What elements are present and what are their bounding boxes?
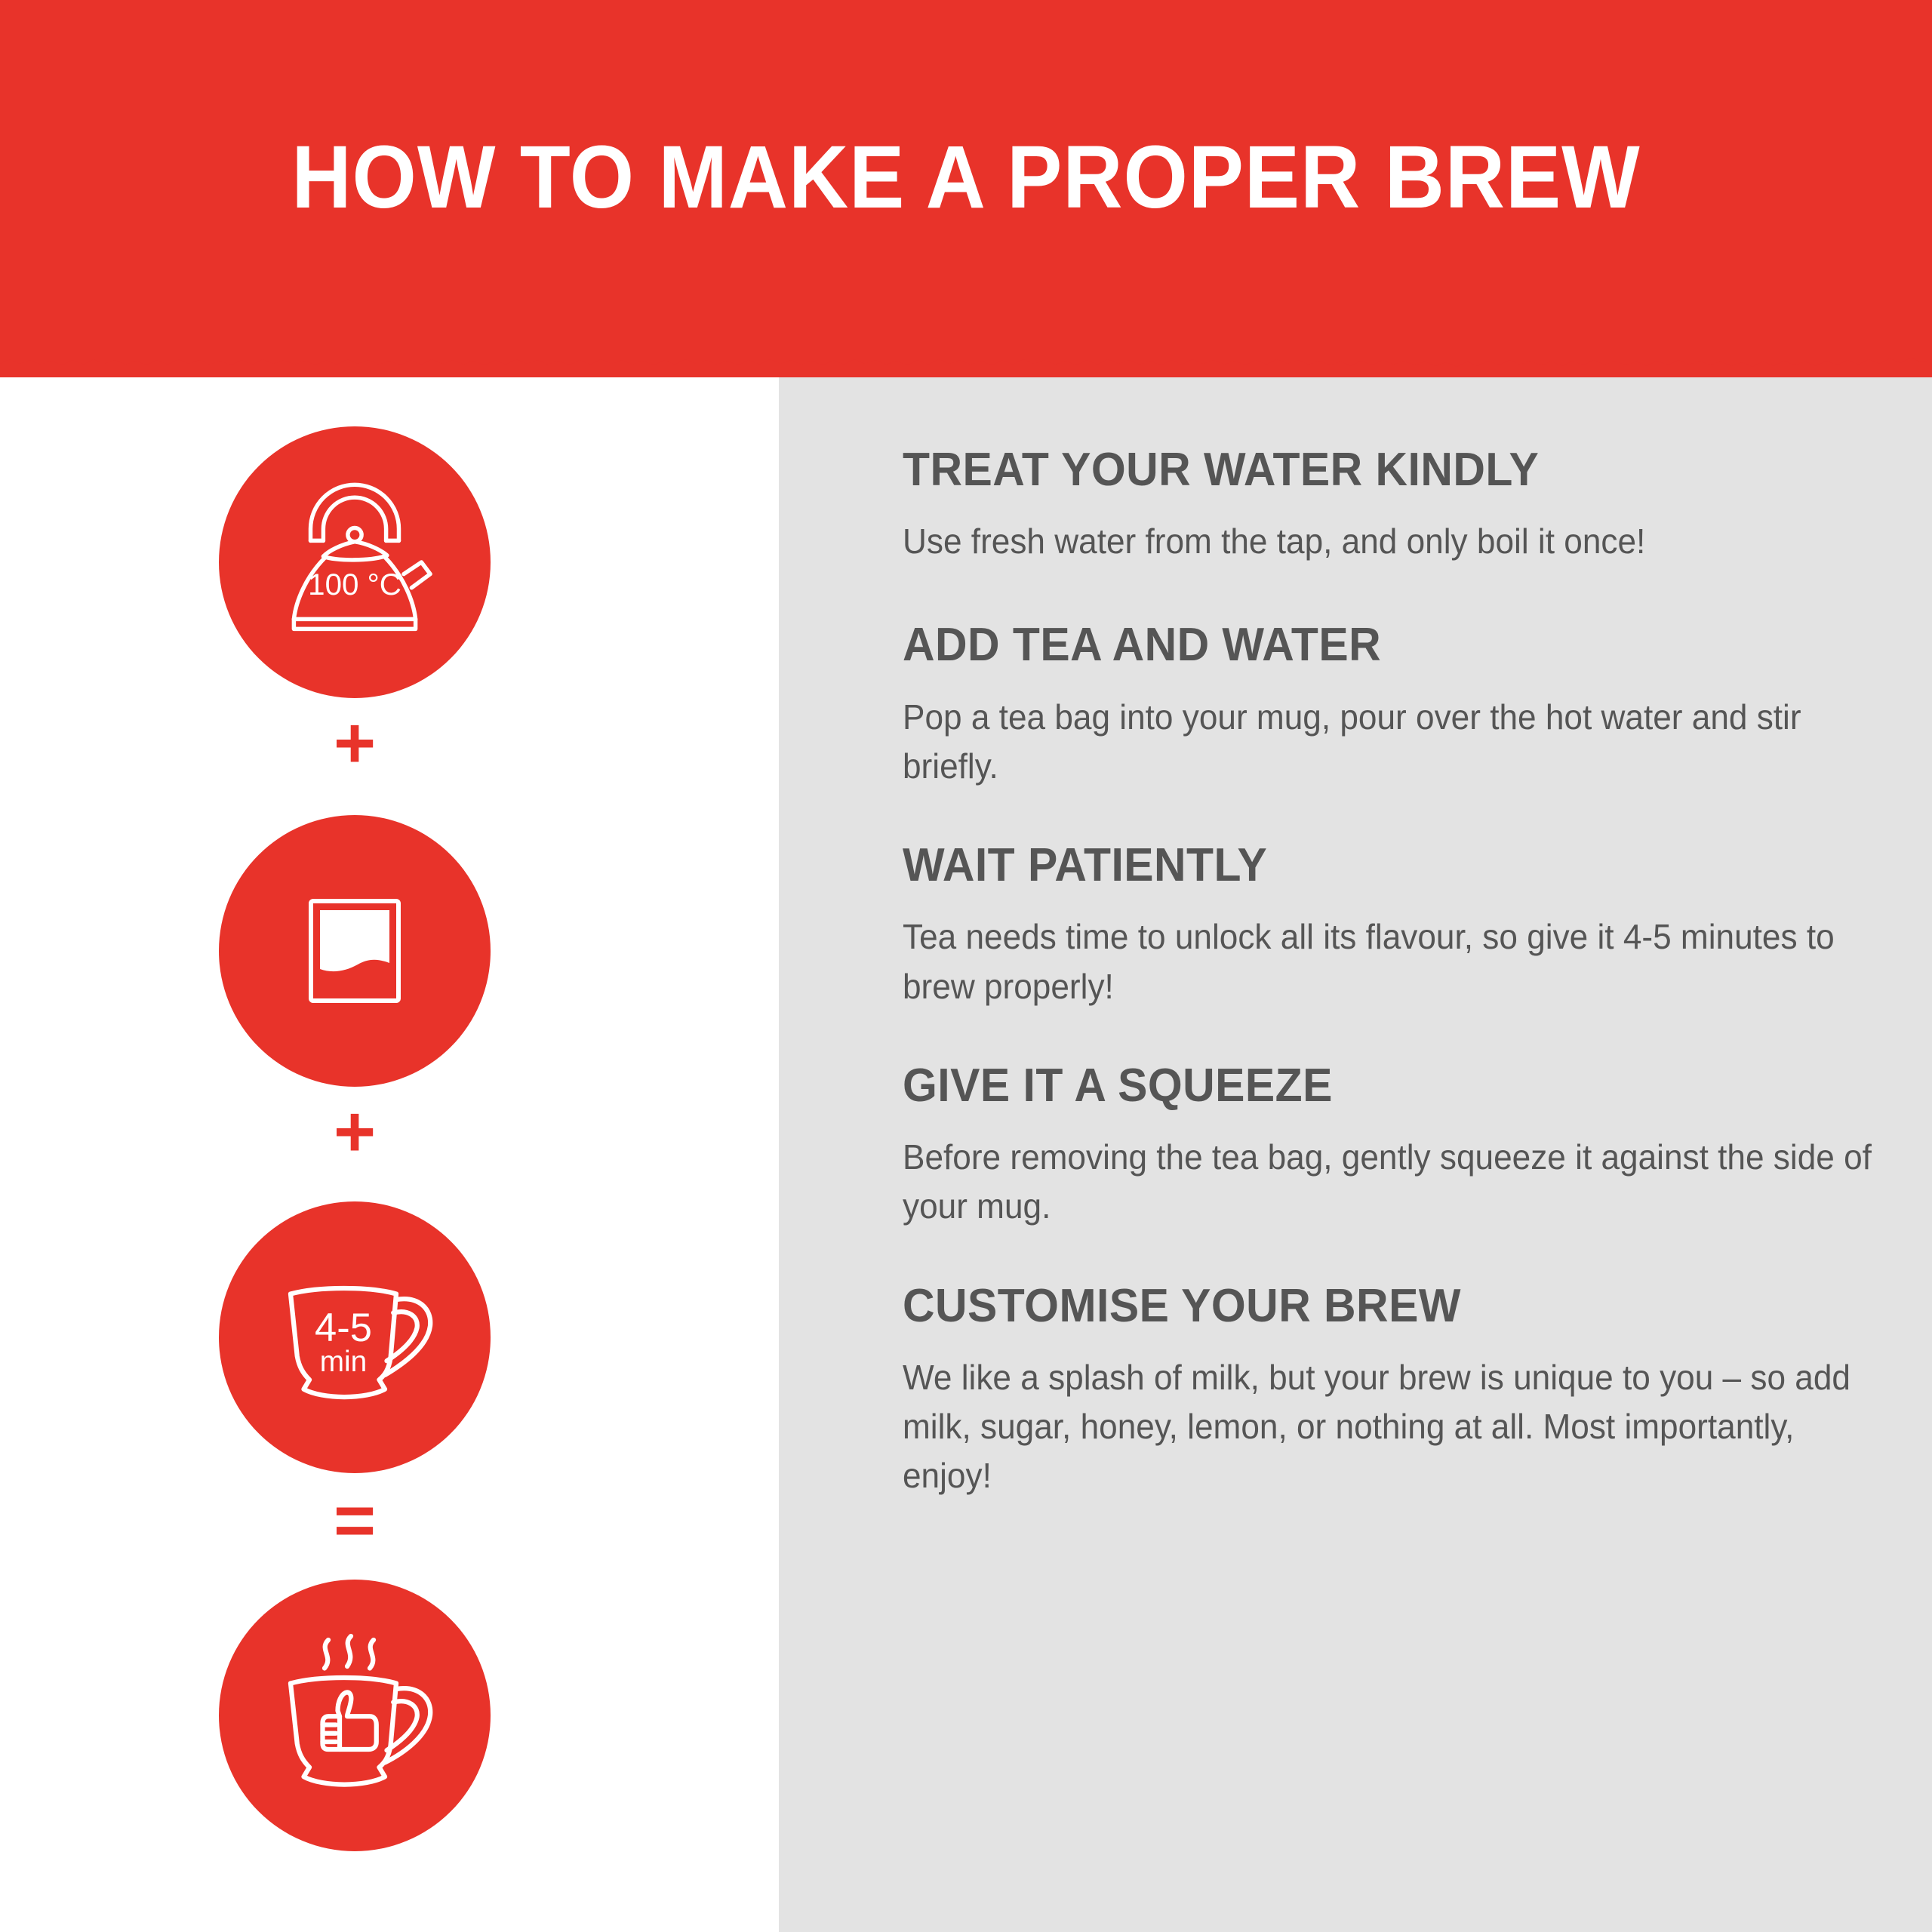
step-body: Pop a tea bag into your mug, pour over t… [903,693,1875,792]
equals-sign: = [219,1487,491,1555]
steps-list: TREAT YOUR WATER KINDLY Use fresh water … [903,445,1876,1501]
mug-timer-icon: 4-5 min [219,1201,491,1473]
kettle-icon: 100 °C [219,426,491,698]
step-item: WAIT PATIENTLY Tea needs time to unlock … [903,841,1876,1011]
step-title: CUSTOMISE YOUR BREW [903,1281,1828,1331]
brew-time-unit: min [320,1346,367,1378]
header-band: HOW TO MAKE A PROPER BREW [0,0,1932,377]
step-body: Before removing the tea bag, gently sque… [903,1133,1875,1232]
step-title: TREAT YOUR WATER KINDLY [903,445,1828,494]
step-item: ADD TEA AND WATER Pop a tea bag into you… [903,620,1876,791]
brew-equation-column: 100 °C + + 4-5 min [109,408,645,1887]
step-body: Use fresh water from the tap, and only b… [903,517,1875,566]
brew-time-value: 4-5 [315,1306,372,1350]
mug-thumbs-up-icon [219,1580,491,1851]
infographic-page: HOW TO MAKE A PROPER BREW [0,0,1932,1932]
step-body: We like a splash of milk, but your brew … [903,1353,1875,1501]
tea-bag-icon [219,815,491,1087]
plus-sign-2: + [219,1098,491,1166]
plus-sign-1: + [219,709,491,777]
step-title: WAIT PATIENTLY [903,841,1828,890]
step-item: TREAT YOUR WATER KINDLY Use fresh water … [903,445,1876,566]
kettle-temperature-label: 100 °C [308,568,401,601]
step-body: Tea needs time to unlock all its flavour… [903,912,1875,1011]
step-item: CUSTOMISE YOUR BREW We like a splash of … [903,1281,1876,1501]
step-item: GIVE IT A SQUEEZE Before removing the te… [903,1061,1876,1232]
step-title: GIVE IT A SQUEEZE [903,1061,1828,1110]
step-title: ADD TEA AND WATER [903,620,1828,669]
page-title: HOW TO MAKE A PROPER BREW [68,0,1865,355]
